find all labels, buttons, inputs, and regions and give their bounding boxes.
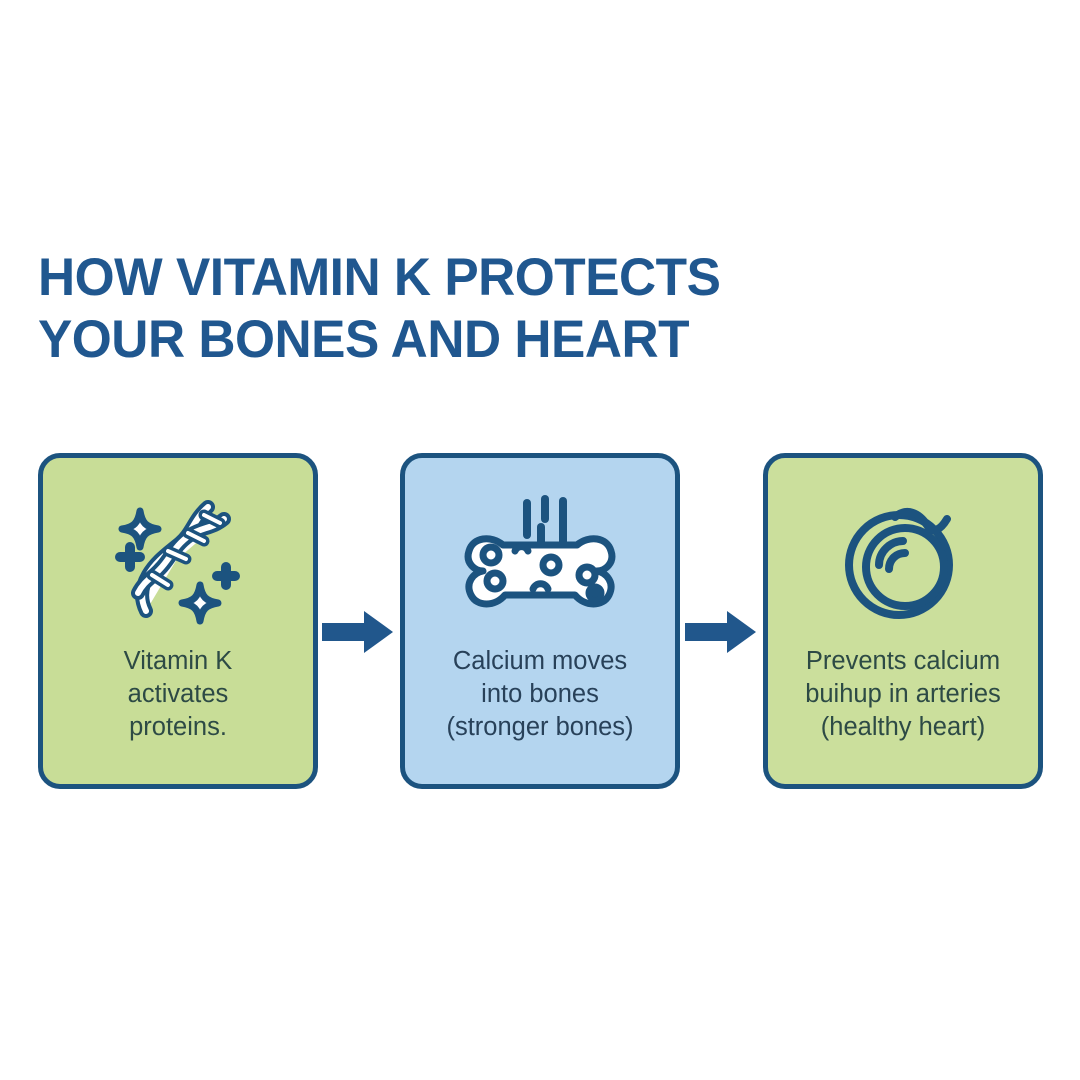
caption-line: Prevents calcium [774,645,1032,678]
flow-step-card-2[interactable]: Calcium moves into bones (stronger bones… [400,453,680,789]
caption-line: Calcium moves [411,645,669,678]
arrow-right-icon-1 [322,610,394,654]
page-title-line-1: HOW VITAMIN K PROTECTS [38,247,911,309]
caption-line: Vitamin K [49,645,307,678]
dna-helix-sparkle-icon [108,486,248,631]
flow-step-card-1[interactable]: Vitamin K activates proteins. [38,453,318,789]
infographic-canvas: HOW VITAMIN K PROTECTS YOUR BONES AND HE… [0,0,1080,1080]
caption-line: buihup in arteries [774,678,1032,711]
caption-line: activates [49,678,307,711]
page-title-line-2: YOUR BONES AND HEART [38,309,911,371]
bone-with-motion-lines-icon [455,486,625,631]
artery-cross-section-icon [833,486,973,631]
page-title: HOW VITAMIN K PROTECTS YOUR BONES AND HE… [38,247,938,371]
flow-step-caption-3: Prevents calcium buihup in arteries (hea… [768,645,1038,744]
caption-line: proteins. [49,711,307,744]
caption-line: into bones [411,678,669,711]
flow-step-card-3[interactable]: Prevents calcium buihup in arteries (hea… [763,453,1043,789]
flow-step-caption-1: Vitamin K activates proteins. [43,645,313,744]
flow-step-caption-2: Calcium moves into bones (stronger bones… [405,645,675,744]
arrow-right-icon-2 [685,610,757,654]
caption-line: (stronger bones) [411,711,669,744]
flow-diagram: Vitamin K activates proteins. [38,453,1043,789]
caption-line: (healthy heart) [774,711,1032,744]
